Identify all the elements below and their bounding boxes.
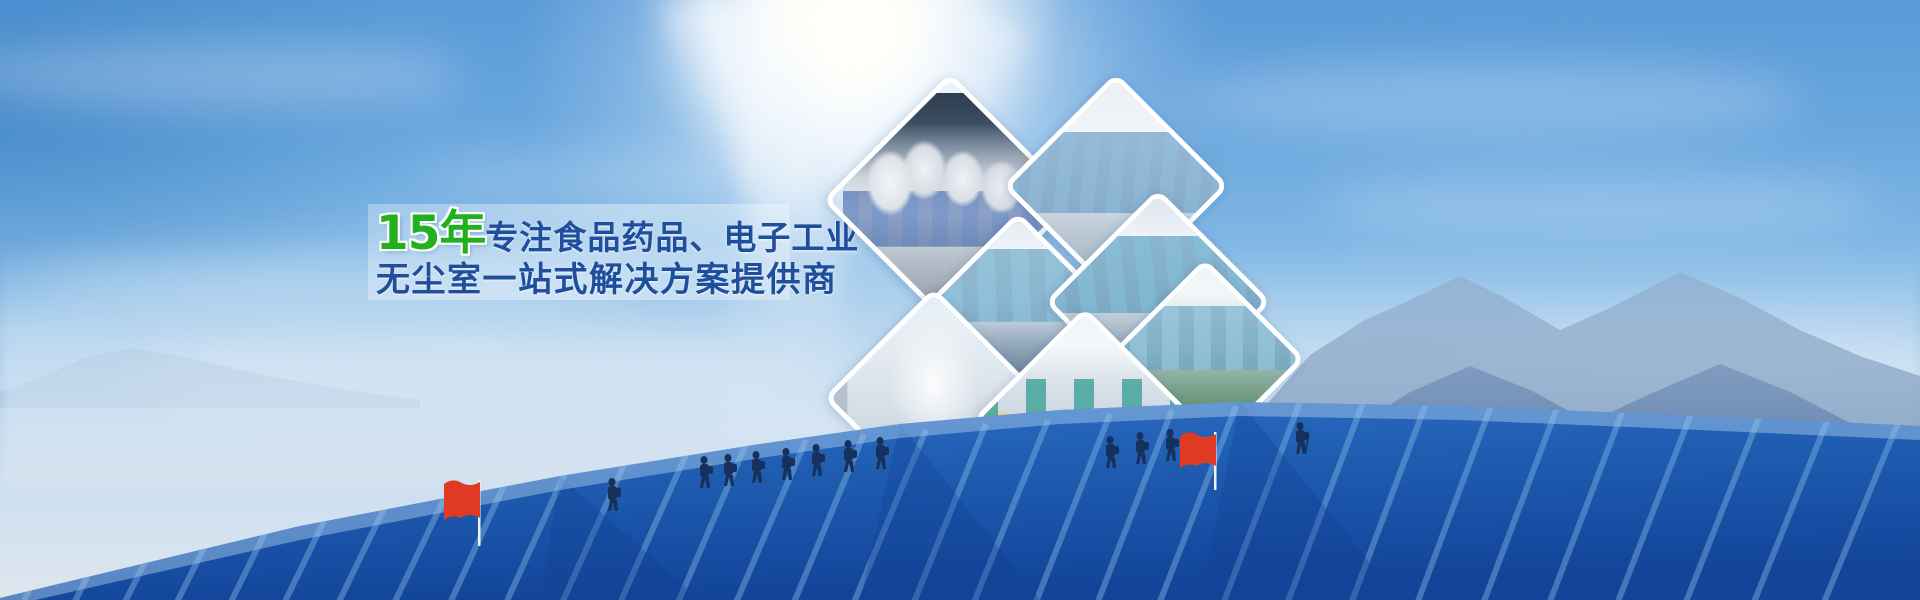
headline-line-1: 15年专注食品药品、电子工业 [376,210,848,257]
red-flag-right [1180,432,1217,490]
ridge-figures [0,340,1920,600]
years-unit: 年 [439,206,485,261]
headline-line-2-text: 无尘室一站式解决方案提供商 [376,260,838,300]
headline-block: 15年专注食品药品、电子工业 无尘室一站式解决方案提供商 [368,198,848,308]
red-flag-left [444,480,481,546]
years-number: 15 [376,206,439,261]
headline-line-2: 无尘室一站式解决方案提供商 [376,263,848,297]
headline-line-1-rest: 专注食品药品、电子工业 [485,218,859,257]
climber-silhouettes [608,422,1310,511]
hero-banner: 15年专注食品药品、电子工业 无尘室一站式解决方案提供商 [0,0,1920,600]
cloud [420,150,840,205]
